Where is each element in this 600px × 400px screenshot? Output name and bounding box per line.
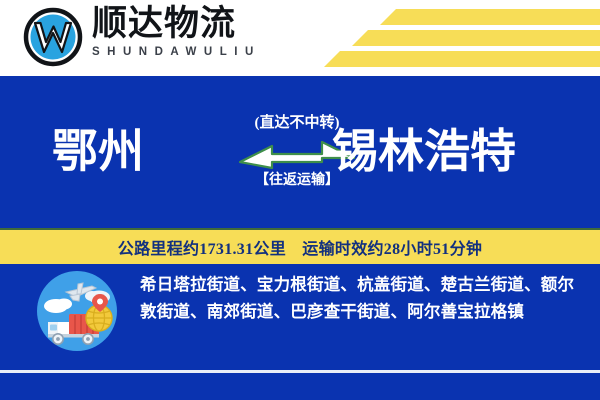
origin-city: 鄂州 [52,129,144,175]
footer-bar [0,373,600,400]
distance-duration-text: 公路里程约1731.31公里 运输时效约28小时51分钟 [118,235,482,259]
company-logo: 顺达物流 SHUNDAWULIU [22,6,261,68]
route-section: 鄂州 (直达不中转) 【往返运输】 锡林浩特 [0,76,600,228]
distance-duration-band: 公路里程约1731.31公里 运输时效约28小时51分钟 [0,228,600,264]
logo-text: 顺达物流 SHUNDAWULIU [92,6,261,58]
coverage-section: 希日塔拉街道、宝力根街道、杭盖街道、楚古兰街道、额尔敦街道、南郊街道、巴彦查干街… [0,264,600,370]
destination-city: 锡林浩特 [332,129,516,175]
stripe-2 [352,30,600,46]
circle-swoosh-logo-icon [22,6,84,68]
coverage-areas-text: 希日塔拉街道、宝力根街道、杭盖街道、楚古兰街道、额尔敦街道、南郊街道、巴彦查干街… [140,272,580,325]
logistics-route-banner: 顺达物流 SHUNDAWULIU 鄂州 (直达不中转) 【往返运输】 锡林浩特 … [0,0,600,400]
truck-plane-globe-icon [36,270,118,352]
company-name-cn: 顺达物流 [92,6,261,43]
stripe-3 [324,51,600,67]
header: 顺达物流 SHUNDAWULIU [0,0,600,76]
stripe-1 [380,9,600,25]
company-name-en: SHUNDAWULIU [92,46,261,58]
decorative-stripes [320,0,600,76]
